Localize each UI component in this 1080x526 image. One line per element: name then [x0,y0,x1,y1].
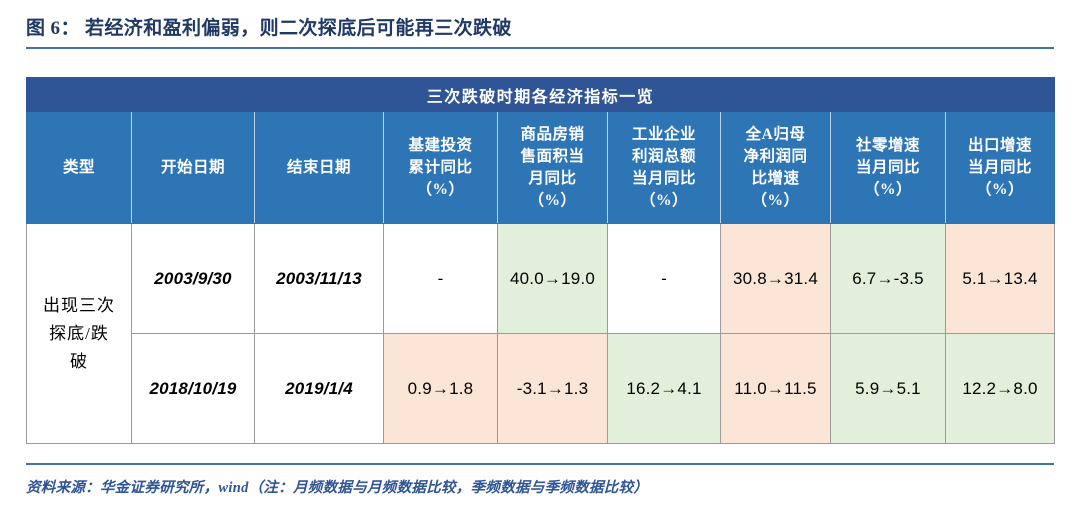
header-line: 净利润同 [721,146,830,168]
source-note: 资料来源：华金证券研究所，wind（注：月频数据与月频数据比较，季频数据与季频数… [26,476,1054,497]
cell-start-date: 2018/10/19 [132,334,255,444]
header-line: 商品房销 [498,124,607,146]
column-header-export-growth: 出口增速 当月同比 （%） [946,112,1055,224]
column-header-infrastructure-investment: 基建投资 累计同比 （%） [384,112,498,224]
header-line: 出口增速 [946,135,1054,157]
header-line: 全A归母 [721,124,830,146]
table-banner: 三次跌破时期各经济指标一览 [27,78,1055,112]
column-header-type: 类型 [27,112,132,224]
cell-all-a-net-profit: 11.0→11.5 [721,334,831,444]
cell-export-growth: 5.1→13.4 [946,224,1055,334]
header-line: 开始日期 [132,157,254,179]
source-divider [26,463,1054,465]
row-header-line: 破 [27,348,131,376]
column-header-all-a-net-profit: 全A归母 净利润同 比增速 （%） [721,112,831,224]
header-line: （%） [608,190,720,212]
cell-infrastructure-investment: 0.9→1.8 [384,334,498,444]
page-title: 图 6： 若经济和盈利偏弱，则二次探底后可能再三次跌破 [26,16,1054,42]
title-divider [26,47,1054,49]
column-header-industrial-profit: 工业企业 利润总额 当月同比 （%） [608,112,721,224]
column-header-start-date: 开始日期 [132,112,255,224]
economic-indicator-table: 三次跌破时期各经济指标一览 类型 开始日期 结束日期 基建投资 累计同比 （%） [26,77,1055,444]
cell-end-date: 2019/1/4 [255,334,384,444]
cell-retail-sales-growth: 6.7→-3.5 [831,224,946,334]
figure-title-block: 图 6： 若经济和盈利偏弱，则二次探底后可能再三次跌破 [26,16,1054,49]
header-line: 当月同比 [946,157,1054,179]
header-line: 比增速 [721,168,830,190]
cell-end-date: 2003/11/13 [255,224,384,334]
cell-retail-sales-growth: 5.9→5.1 [831,334,946,444]
cell-start-date: 2003/9/30 [132,224,255,334]
column-header-retail-sales-growth: 社零增速 当月同比 （%） [831,112,946,224]
cell-industrial-profit: 16.2→4.1 [608,334,721,444]
row-header-line: 探底/跌 [27,320,131,348]
cell-industrial-profit: - [608,224,721,334]
economic-indicator-table-wrap: 三次跌破时期各经济指标一览 类型 开始日期 结束日期 基建投资 累计同比 （%） [26,77,1054,444]
header-line: 工业企业 [608,124,720,146]
header-line: 累计同比 [384,157,497,179]
cell-all-a-net-profit: 30.8→31.4 [721,224,831,334]
header-line: 类型 [27,157,131,179]
row-header-type: 出现三次 探底/跌 破 [27,224,132,444]
header-line: （%） [831,179,945,201]
column-header-end-date: 结束日期 [255,112,384,224]
header-line: 社零增速 [831,135,945,157]
header-line: 基建投资 [384,135,497,157]
header-line: （%） [946,179,1054,201]
cell-export-growth: 12.2→8.0 [946,334,1055,444]
table-header-row: 类型 开始日期 结束日期 基建投资 累计同比 （%） 商品房销 售面积当 月同比 [27,112,1055,224]
table-row: 2018/10/19 2019/1/4 0.9→1.8 -3.1→1.3 16.… [27,334,1055,444]
header-line: （%） [721,190,830,212]
cell-infrastructure-investment: - [384,224,498,334]
header-line: 售面积当 [498,146,607,168]
header-line: 当月同比 [608,168,720,190]
header-line: （%） [498,190,607,212]
table-banner-row: 三次跌破时期各经济指标一览 [27,78,1055,112]
header-line: （%） [384,179,497,201]
cell-commercial-housing-sales: -3.1→1.3 [498,334,608,444]
row-header-line: 出现三次 [27,292,131,320]
column-header-commercial-housing-sales: 商品房销 售面积当 月同比 （%） [498,112,608,224]
header-line: 结束日期 [255,157,383,179]
header-line: 当月同比 [831,157,945,179]
source-note-block: 资料来源：华金证券研究所，wind（注：月频数据与月频数据比较，季频数据与季频数… [26,463,1054,497]
cell-commercial-housing-sales: 40.0→19.0 [498,224,608,334]
header-line: 月同比 [498,168,607,190]
header-line: 利润总额 [608,146,720,168]
table-row: 出现三次 探底/跌 破 2003/9/30 2003/11/13 - 40.0→… [27,224,1055,334]
